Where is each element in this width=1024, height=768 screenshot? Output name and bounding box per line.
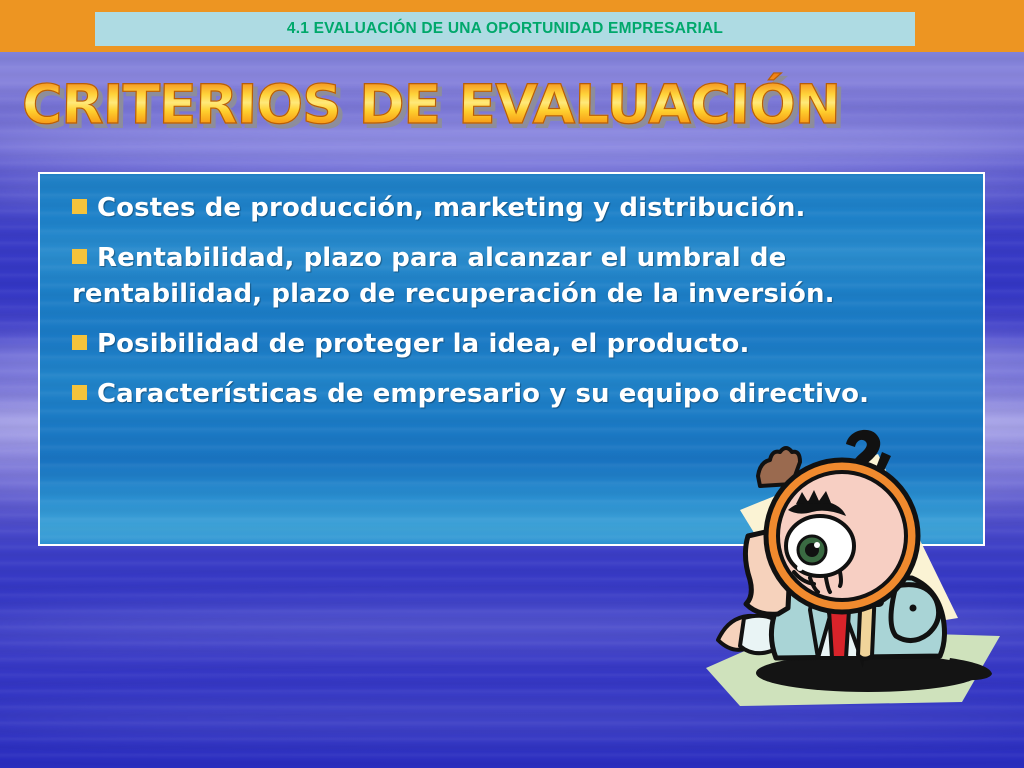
page-title-text: CRITERIOS DE EVALUACIÓN <box>21 73 840 136</box>
square-bullet-icon <box>72 385 87 400</box>
bullet-list: Costes de producción, marketing y distri… <box>40 174 983 412</box>
square-bullet-icon <box>72 249 87 264</box>
list-item-label: Características de empresario y su equip… <box>97 379 869 409</box>
list-item: Características de empresario y su equip… <box>72 376 959 412</box>
eye-highlight <box>814 542 820 548</box>
list-item: Posibilidad de proteger la idea, el prod… <box>72 326 959 362</box>
square-bullet-icon <box>72 199 87 214</box>
list-item-label: Posibilidad de proteger la idea, el prod… <box>97 329 749 359</box>
man-with-magnifying-glass-illustration <box>700 418 1010 718</box>
presentation-slide: 4.1 EVALUACIÓN DE UNA OPORTUNIDAD EMPRES… <box>0 0 1024 768</box>
header-plaque: 4.1 EVALUACIÓN DE UNA OPORTUNIDAD EMPRES… <box>95 12 915 46</box>
list-item-label: Rentabilidad, plazo para alcanzar el umb… <box>72 243 835 309</box>
cheek-dot <box>797 565 803 571</box>
square-bullet-icon <box>72 335 87 350</box>
list-item-label: Costes de producción, marketing y distri… <box>97 193 806 223</box>
right-arm <box>891 585 939 641</box>
page-title: CRITERIOS DE EVALUACIÓN CRITERIOS DE EVA… <box>22 74 824 138</box>
arm-detail <box>910 605 917 612</box>
list-item: Costes de producción, marketing y distri… <box>72 190 959 226</box>
list-item: Rentabilidad, plazo para alcanzar el umb… <box>72 240 959 312</box>
header-title: 4.1 EVALUACIÓN DE UNA OPORTUNIDAD EMPRES… <box>287 20 723 38</box>
